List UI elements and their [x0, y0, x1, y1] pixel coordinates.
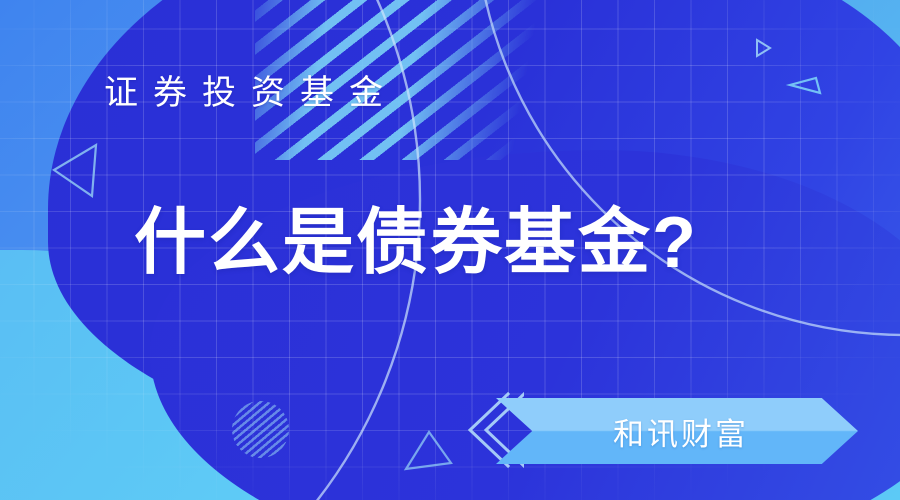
triangle-top-right-small-icon: [757, 40, 770, 56]
poster-canvas: 证券投资基金 什么是债券基金? 和讯财富: [0, 0, 900, 500]
brand-banner: 和讯财富: [496, 398, 858, 464]
triangle-bottom-icon: [406, 432, 451, 469]
brand-banner-label: 和讯财富: [496, 398, 858, 464]
triangle-top-right-icon: [790, 78, 820, 93]
striped-circle-decor: [232, 401, 289, 458]
arc-top-right-icon: [475, 0, 900, 335]
poster-subtitle: 证券投资基金: [104, 76, 398, 110]
light-cyan-blob: [0, 250, 320, 500]
triangle-left-icon: [54, 145, 96, 196]
poster-title: 什么是债券基金?: [134, 204, 698, 283]
